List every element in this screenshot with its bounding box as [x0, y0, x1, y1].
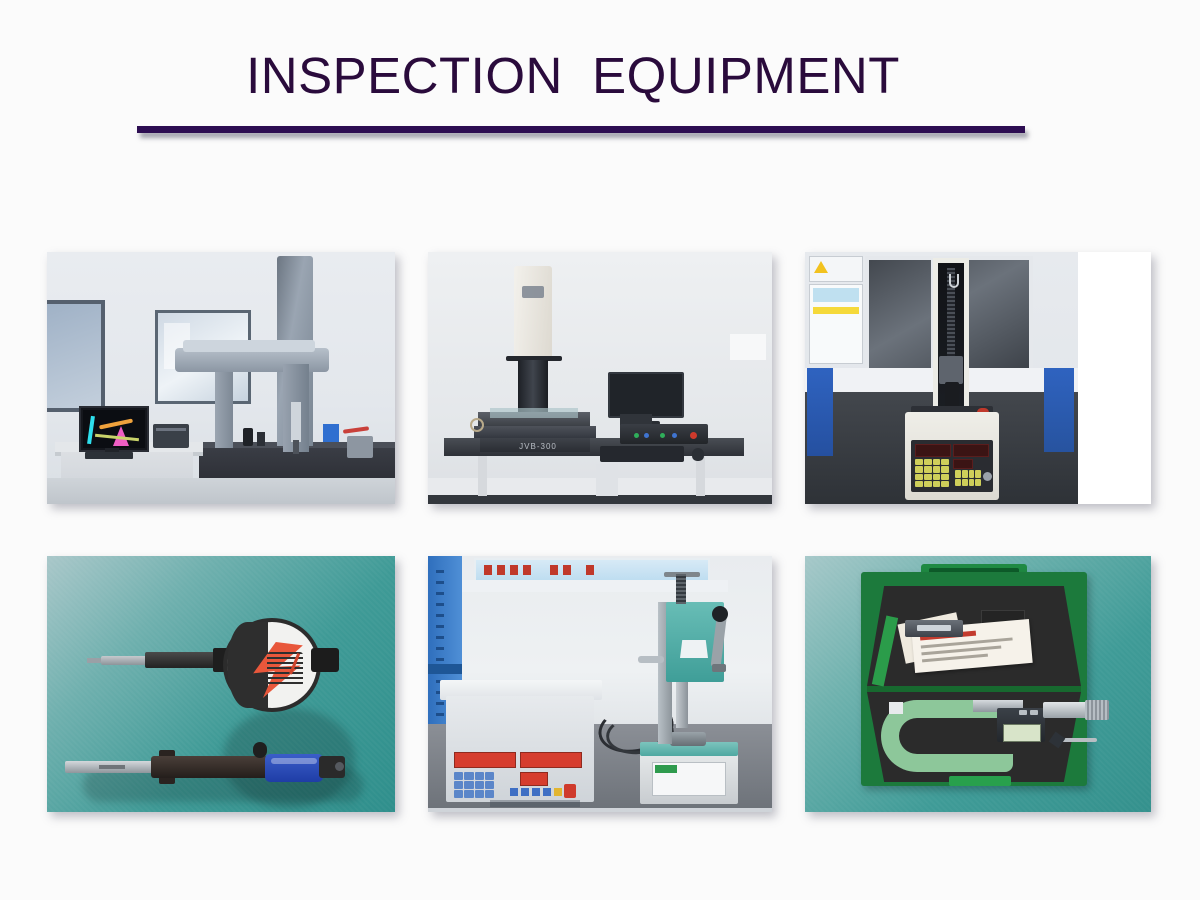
dial-back-cap: [311, 648, 339, 672]
photo-card-tensile-tester[interactable]: Tensile / pull force testing machine wit…: [805, 252, 1151, 504]
keypad-key[interactable]: [485, 781, 494, 789]
press-ram: [676, 682, 688, 728]
display-button[interactable]: [1030, 710, 1038, 715]
slide-header: INSPECTION EQUIPMENT: [0, 0, 1200, 150]
manufacturer-logo: [522, 286, 544, 298]
keypad-key[interactable]: [454, 790, 463, 798]
function-keypad[interactable]: [955, 470, 981, 486]
photo-frame: [805, 252, 1078, 504]
photo-tensile-tester: [805, 252, 1078, 504]
keypad-key[interactable]: [941, 466, 949, 472]
upper-grip-hook: [949, 274, 959, 288]
function-button[interactable]: [543, 788, 551, 796]
numeric-keypad[interactable]: [915, 459, 949, 487]
photo-card-digital-micrometer[interactable]: Digital outside micrometer in green carr…: [805, 556, 1151, 812]
photo-frame: GLOBAL: [47, 252, 395, 504]
top-adjust-screw: [676, 574, 686, 604]
keypad-key[interactable]: [941, 459, 949, 465]
function-key[interactable]: [955, 479, 961, 487]
photo-card-video-measuring-machine[interactable]: JVB-300 Video measuring machine with mon…: [428, 252, 772, 504]
banner-char: [586, 565, 594, 575]
window-left: [47, 300, 105, 412]
micrometer-thimble: [1085, 700, 1109, 720]
function-key[interactable]: [969, 470, 975, 478]
keypad-key[interactable]: [924, 459, 932, 465]
optical-column: [514, 266, 552, 360]
wall-notice: [730, 334, 766, 360]
keypad-key[interactable]: [933, 466, 941, 472]
keypad-key[interactable]: [454, 781, 463, 789]
dial-indicator-face: [223, 618, 321, 712]
photo-card-cmm-machine[interactable]: GLOBAL: [47, 252, 395, 504]
keypad-key[interactable]: [933, 474, 941, 480]
function-button[interactable]: [510, 788, 518, 796]
led-display-right: [520, 752, 582, 768]
laser-printer: [153, 424, 189, 448]
machine-model-label: JVB-300: [516, 442, 560, 451]
display-buttons[interactable]: [1019, 710, 1038, 715]
floor-skirting: [428, 495, 772, 504]
bore-gauge-body: [151, 756, 271, 778]
photo-card-insertion-force-tester[interactable]: Insertion / extraction force test rig wi…: [428, 556, 772, 812]
keypad-key[interactable]: [924, 481, 932, 487]
rotary-dial[interactable]: [983, 472, 992, 481]
photo-cmm-machine: GLOBAL: [47, 252, 395, 504]
page-title: INSPECTION EQUIPMENT: [0, 50, 1146, 101]
cad-curve-orange: [99, 419, 133, 430]
lab-floor: [47, 478, 395, 504]
display-button[interactable]: [1019, 710, 1027, 715]
certificate-line: [922, 654, 988, 663]
micrometer-anvil: [889, 702, 903, 714]
banner-char: [510, 565, 518, 575]
press-head-label: [680, 640, 708, 658]
blue-smock-left: [807, 368, 833, 456]
cmm-probe: [293, 440, 299, 454]
numeric-keypad[interactable]: [454, 772, 494, 798]
computer-monitor: [608, 372, 684, 418]
measuring-stage-middle: [474, 426, 596, 438]
banner-char: [497, 565, 505, 575]
test-anvil: [670, 732, 706, 746]
case-hinge: [867, 686, 1081, 692]
keypad-key[interactable]: [933, 481, 941, 487]
control-button-green: [634, 433, 639, 438]
keypad-key[interactable]: [464, 781, 473, 789]
equipment-photo-gallery: GLOBAL: [47, 252, 1153, 812]
banner-char: [550, 565, 558, 575]
workstation-keyboard: [85, 452, 133, 459]
digital-control-console[interactable]: [446, 696, 594, 802]
keypad-key[interactable]: [485, 772, 494, 780]
adjustment-handle[interactable]: [638, 656, 664, 663]
display-right: [953, 444, 989, 457]
lever-stop: [712, 664, 726, 672]
function-button-row[interactable]: [510, 788, 562, 796]
keypad-key[interactable]: [915, 459, 923, 465]
display-small: [953, 459, 973, 469]
cmm-bridge-leg: [215, 364, 233, 448]
function-key[interactable]: [962, 479, 968, 487]
micrometer-barrel: [1043, 702, 1087, 718]
function-button[interactable]: [532, 788, 540, 796]
control-button-blue: [644, 433, 649, 438]
cmm-bridge-carriage: [183, 340, 315, 352]
table-leg-left: [478, 456, 487, 496]
micrometer-brand-plate: [905, 620, 963, 637]
banner-char: [523, 565, 531, 575]
photo-video-measuring-machine: JVB-300: [428, 252, 772, 504]
control-button-red: [690, 432, 697, 439]
keypad-key[interactable]: [454, 772, 463, 780]
function-key[interactable]: [975, 479, 981, 487]
lever-knob[interactable]: [712, 606, 728, 622]
lcd-display: [1003, 724, 1041, 742]
keypad-key[interactable]: [475, 790, 484, 798]
glass-stage-plate: [490, 408, 578, 418]
operating-instructions-poster: [809, 284, 863, 364]
bore-gauge-tail: [319, 756, 345, 778]
photo-frame: [805, 556, 1151, 812]
led-display-small: [520, 772, 548, 786]
keyboard: [600, 446, 684, 462]
test-stand-spec-label: [652, 762, 726, 796]
function-key[interactable]: [969, 479, 975, 487]
title-divider-rule: [137, 126, 1025, 133]
blue-fixture-block: [323, 424, 339, 442]
keypad-key[interactable]: [485, 790, 494, 798]
control-panel[interactable]: [911, 440, 993, 492]
control-button-blue-2: [672, 433, 677, 438]
micrometer-carrying-case: [861, 572, 1087, 786]
photo-frame: JVB-300: [428, 252, 772, 504]
keypad-key[interactable]: [933, 459, 941, 465]
cad-curve-cyan: [87, 416, 95, 444]
bore-gauge-shaft: [65, 761, 161, 773]
keypad-key[interactable]: [464, 772, 473, 780]
keypad-key[interactable]: [475, 781, 484, 789]
table-legs: [468, 456, 718, 496]
control-button-green-2: [660, 433, 665, 438]
photo-insertion-force-tester: [428, 556, 772, 812]
photo-card-dial-bore-gauge[interactable]: Dial indicator and dial bore gauge laid …: [47, 556, 395, 812]
function-button[interactable]: [521, 788, 529, 796]
safety-notice-poster: [809, 256, 863, 282]
blue-smock-right: [1044, 368, 1074, 452]
mouse: [692, 448, 704, 461]
window-sill: [448, 580, 728, 592]
keypad-key[interactable]: [924, 474, 932, 480]
crosshead-grip: [939, 356, 963, 384]
desktop-pc-tower: [596, 464, 618, 496]
keypad-key[interactable]: [915, 474, 923, 480]
photo-digital-micrometer: [805, 556, 1151, 812]
grip-highlight: [271, 758, 317, 764]
workpiece-fixture-b: [257, 432, 265, 446]
keypad-key[interactable]: [915, 481, 923, 487]
banner-char: [563, 565, 571, 575]
power-switch[interactable]: [564, 784, 576, 798]
banner-char: [484, 565, 492, 575]
banner-characters: [484, 565, 594, 575]
photo-frame: [428, 556, 772, 812]
keypad-key[interactable]: [915, 466, 923, 472]
function-key[interactable]: [955, 470, 961, 478]
keypad-key[interactable]: [941, 481, 949, 487]
workpiece-fixture-a: [243, 428, 253, 446]
stage-hand-wheel: [470, 418, 484, 432]
keypad-key[interactable]: [464, 790, 473, 798]
function-key[interactable]: [975, 470, 981, 478]
cmm-z-ram: [291, 402, 301, 442]
keypad-key[interactable]: [475, 772, 484, 780]
function-key[interactable]: [962, 470, 968, 478]
case-latch[interactable]: [949, 776, 1011, 786]
monitor-screen-content: [83, 410, 145, 448]
photo-frame: [47, 556, 395, 812]
keypad-key[interactable]: [941, 474, 949, 480]
controller-box: [347, 436, 373, 458]
table-leg-right: [696, 456, 705, 496]
display-left: [915, 444, 951, 457]
workstation-monitor: [79, 406, 149, 452]
rack-shelf: [428, 664, 462, 674]
led-display-left: [454, 752, 516, 768]
photo-dial-bore-gauge: [47, 556, 395, 812]
keypad-key[interactable]: [924, 466, 932, 472]
manufacturer-text: [490, 800, 580, 807]
function-button-yellow[interactable]: [554, 788, 562, 796]
